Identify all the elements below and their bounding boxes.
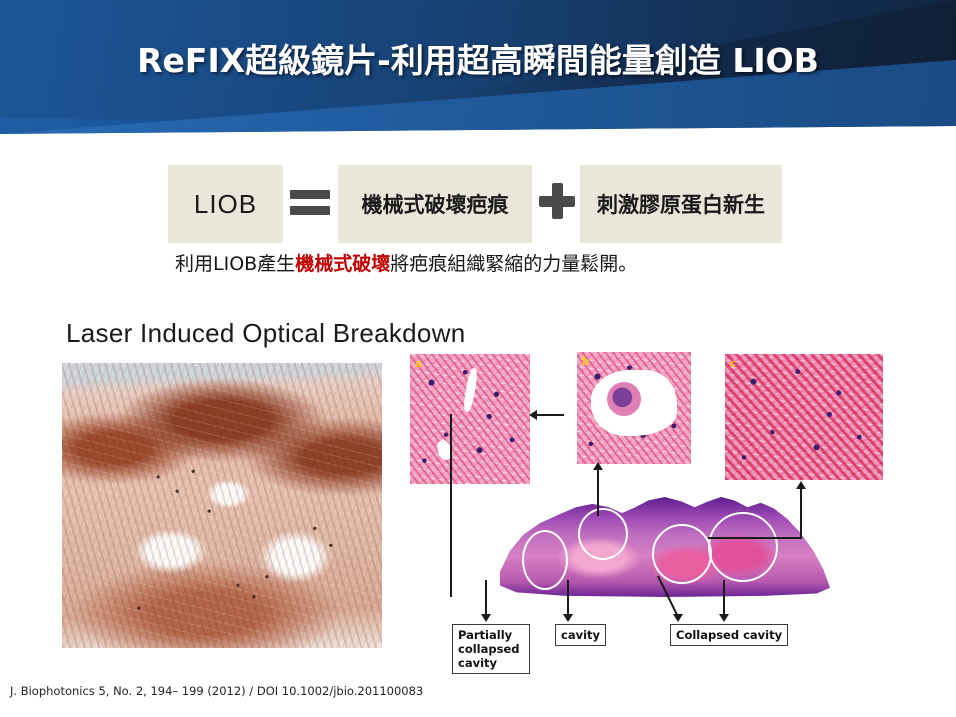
leader-line <box>485 580 487 616</box>
arrow-head-icon <box>719 614 729 622</box>
circle-marker <box>522 530 568 590</box>
plus-icon <box>539 183 575 219</box>
leader-line <box>450 538 452 597</box>
equation-term-liob: LIOB <box>168 165 283 243</box>
circle-marker <box>652 524 712 584</box>
histology-image-left <box>62 363 382 648</box>
panel-label-a: a <box>415 355 422 371</box>
leader-line <box>536 414 564 416</box>
histology-panel-b: b <box>577 352 691 464</box>
histology-panel-c: c <box>725 354 883 480</box>
histology-panel-a: a <box>410 354 530 484</box>
equals-icon <box>290 190 330 218</box>
caption-highlight: 機械式破壞 <box>295 253 390 275</box>
leader-line <box>597 469 599 516</box>
histology-figure-right: a b c Partially collapsed cavity <box>405 352 901 697</box>
leader-line <box>708 537 802 539</box>
equation-term-collagen-regeneration: 刺激膠原蛋白新生 <box>580 165 782 243</box>
arrow-head-icon <box>563 614 573 622</box>
annotation-collapsed-cavity: Collapsed cavity <box>670 624 788 646</box>
tissue-nuclei <box>62 363 382 648</box>
arrow-head-icon <box>481 614 491 622</box>
equation-term-mechanical-damage: 機械式破壞疤痕 <box>338 165 532 243</box>
leader-line <box>450 414 452 539</box>
page-title: ReFIX超級鏡片-利用超高瞬間能量創造 LIOB <box>0 34 956 82</box>
leader-line <box>800 488 802 538</box>
caption-tail: 將疤痕組織緊縮的力量鬆開。 <box>390 253 637 275</box>
equation-term-collagen-regeneration-label: 刺激膠原蛋白新生 <box>597 189 765 219</box>
leader-line <box>567 580 569 616</box>
panel-label-c: c <box>730 355 736 371</box>
caption-lead: 利用LIOB產生 <box>175 253 295 275</box>
caption-line: 利用LIOB產生機械式破壞將疤痕組織緊縮的力量鬆開。 <box>175 249 637 276</box>
citation-text: J. Biophotonics 5, No. 2, 194– 199 (2012… <box>10 684 423 698</box>
equation-term-mechanical-damage-label: 機械式破壞疤痕 <box>362 189 509 219</box>
panel-label-b: b <box>582 353 589 369</box>
arrow-head-icon <box>593 462 603 470</box>
section-heading: Laser Induced Optical Breakdown <box>66 318 466 349</box>
circle-marker <box>578 508 628 560</box>
title-banner: ReFIX超級鏡片-利用超高瞬間能量創造 LIOB <box>0 0 956 136</box>
equation-term-liob-label: LIOB <box>194 189 257 220</box>
arrow-head-icon <box>673 614 683 622</box>
annotation-partially-collapsed-cavity: Partially collapsed cavity <box>452 624 530 674</box>
annotation-cavity: cavity <box>555 624 606 646</box>
arrow-head-icon <box>796 481 806 489</box>
circle-marker <box>708 512 778 582</box>
tissue-cross-section <box>500 482 830 597</box>
arrow-head-icon <box>529 410 537 420</box>
leader-line <box>723 580 725 616</box>
